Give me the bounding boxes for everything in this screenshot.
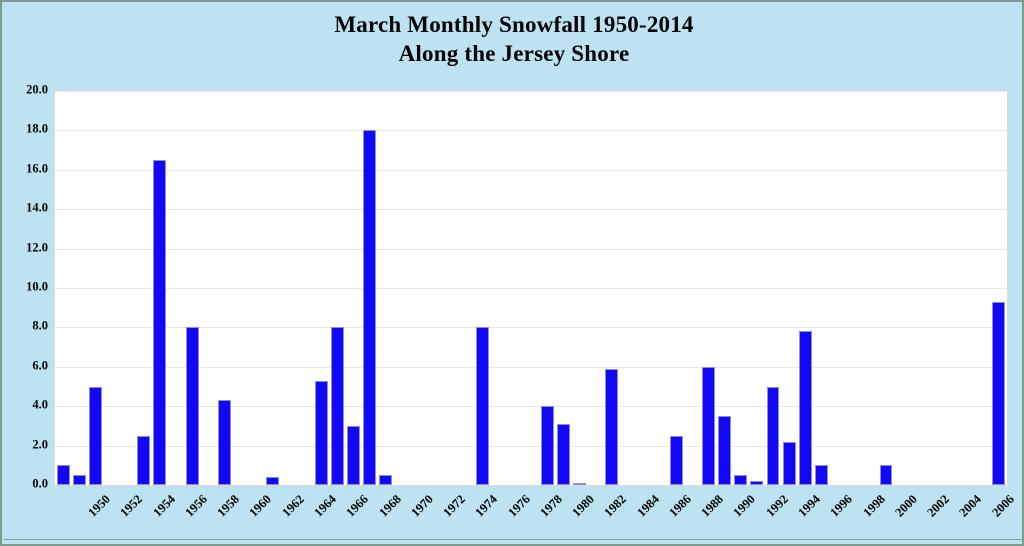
x-tick-label: 1972 — [440, 492, 468, 520]
x-tick-label: 1954 — [150, 492, 178, 520]
x-tick-label: 1950 — [85, 492, 113, 520]
x-tick-label: 2004 — [957, 492, 985, 520]
x-tick-label: 1998 — [860, 492, 888, 520]
x-tick-label: 2006 — [989, 492, 1017, 520]
x-tick-label: 1956 — [182, 492, 210, 520]
y-tick-label: 18.0 — [4, 122, 48, 137]
x-tick-label: 1990 — [731, 492, 759, 520]
axis-baseline-rule — [4, 539, 1022, 540]
y-tick-label: 14.0 — [4, 201, 48, 216]
y-tick-label: 0.0 — [4, 477, 48, 492]
x-tick-label: 1982 — [602, 492, 630, 520]
x-tick-label: 1978 — [537, 492, 565, 520]
x-tick-label: 1966 — [344, 492, 372, 520]
x-tick-label: 1986 — [666, 492, 694, 520]
x-tick-label: 1970 — [408, 492, 436, 520]
x-tick-label: 2000 — [892, 492, 920, 520]
y-tick-label: 12.0 — [4, 240, 48, 255]
y-tick-label: 20.0 — [4, 83, 48, 98]
x-tick-label: 1980 — [569, 492, 597, 520]
x-tick-label: 1996 — [828, 492, 856, 520]
y-tick-label: 6.0 — [4, 358, 48, 373]
x-tick-label: 1976 — [505, 492, 533, 520]
x-tick-label: 1958 — [214, 492, 242, 520]
snowfall-bar-chart: March Monthly Snowfall 1950-2014 Along t… — [0, 0, 1024, 546]
x-tick-label: 1952 — [118, 492, 146, 520]
x-tick-label: 1960 — [247, 492, 275, 520]
x-tick-label: 1984 — [634, 492, 662, 520]
x-tick-label: 1962 — [279, 492, 307, 520]
chart-title: March Monthly Snowfall 1950-2014 Along t… — [2, 10, 1024, 69]
x-tick-label: 1964 — [311, 492, 339, 520]
x-axis: 1950195219541956195819601962196419661968… — [54, 488, 1008, 546]
y-tick-label: 10.0 — [4, 280, 48, 295]
x-tick-label: 1988 — [699, 492, 727, 520]
x-tick-label: 1974 — [473, 492, 501, 520]
y-tick-label: 2.0 — [4, 437, 48, 452]
chart-title-line-2: Along the Jersey Shore — [2, 39, 1024, 68]
x-tick-label: 2002 — [924, 492, 952, 520]
x-tick-label: 1992 — [763, 492, 791, 520]
y-tick-label: 16.0 — [4, 161, 48, 176]
y-tick-label: 4.0 — [4, 398, 48, 413]
y-tick-label: 8.0 — [4, 319, 48, 334]
x-tick-label: 1968 — [376, 492, 404, 520]
y-axis: 20.018.016.014.012.010.08.06.04.02.00.0 — [2, 90, 1024, 486]
chart-title-line-1: March Monthly Snowfall 1950-2014 — [2, 10, 1024, 39]
x-tick-label: 1994 — [795, 492, 823, 520]
